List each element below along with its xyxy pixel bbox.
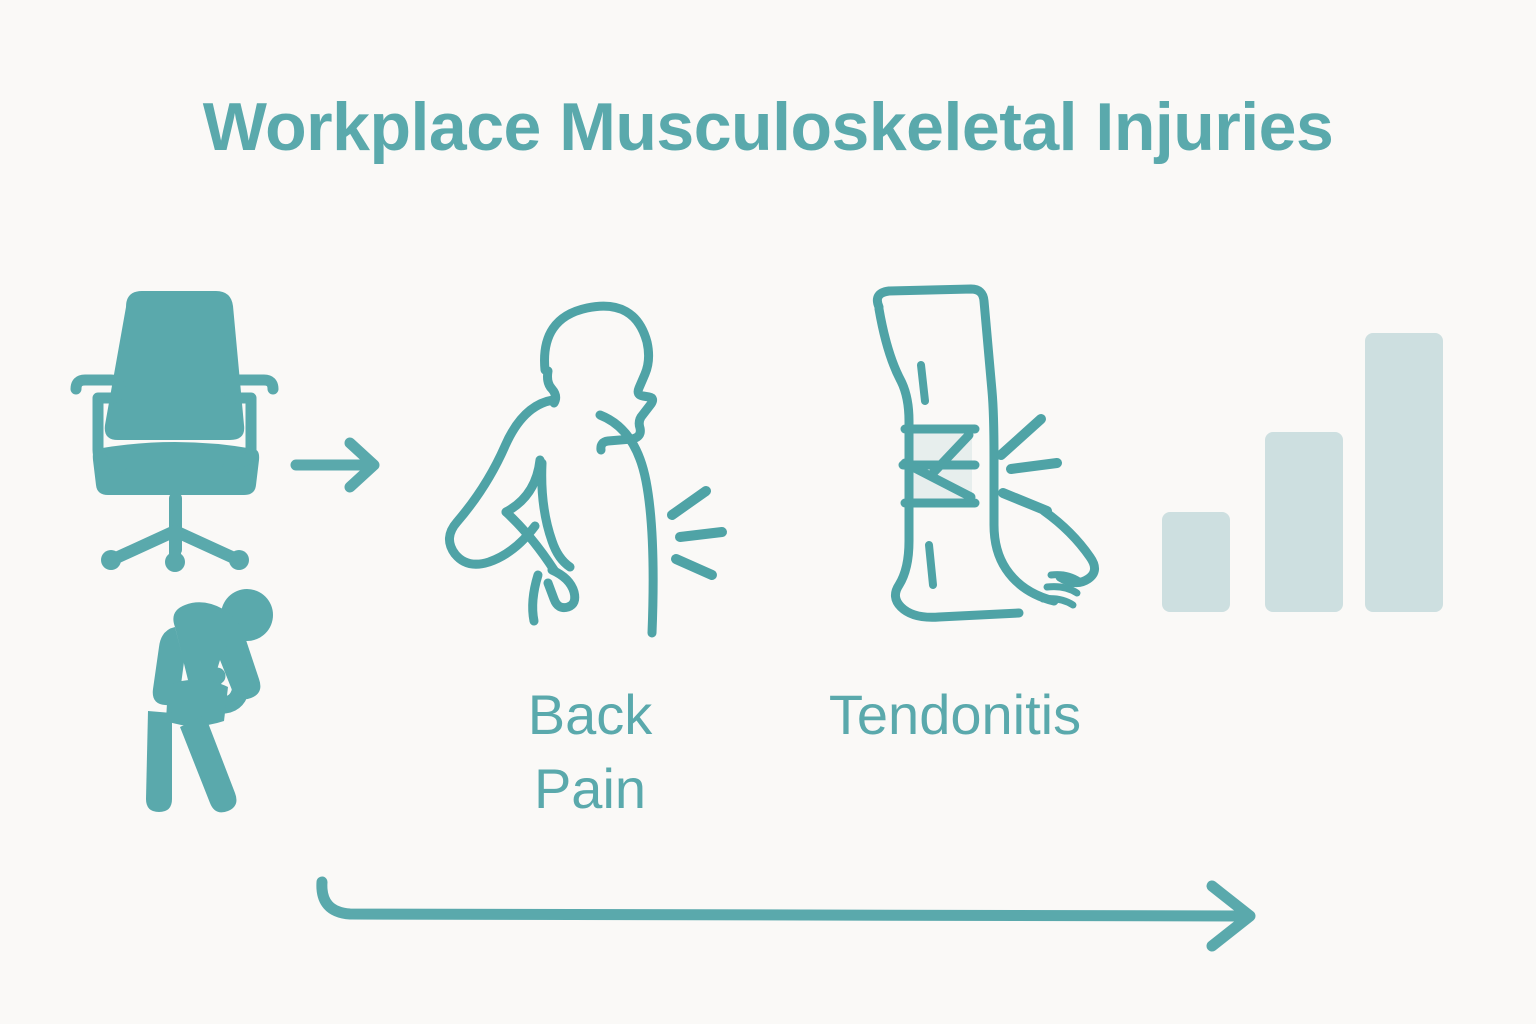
bar-chart-icon: [1160, 325, 1450, 620]
page-title: Workplace Musculoskeletal Injuries: [0, 88, 1536, 166]
bandaged-leg-icon: [855, 285, 1105, 650]
bar-2: [1265, 432, 1343, 612]
label-back-pain: Back Pain: [440, 678, 740, 826]
bar-1: [1162, 512, 1230, 612]
hunched-person-icon: [145, 585, 280, 820]
back-pain-figure-icon: [440, 275, 740, 655]
office-chair-icon: [70, 285, 300, 570]
infographic-canvas: Workplace Musculoskeletal Injuries: [0, 0, 1536, 1024]
right-arrow-icon: [292, 435, 392, 495]
bar-3: [1365, 333, 1443, 612]
pain-lines-icon: [672, 491, 722, 575]
label-tendonitis: Tendonitis: [770, 678, 1140, 752]
progression-arrow-icon: [300, 860, 1290, 950]
pain-lines-icon: [1001, 419, 1057, 511]
